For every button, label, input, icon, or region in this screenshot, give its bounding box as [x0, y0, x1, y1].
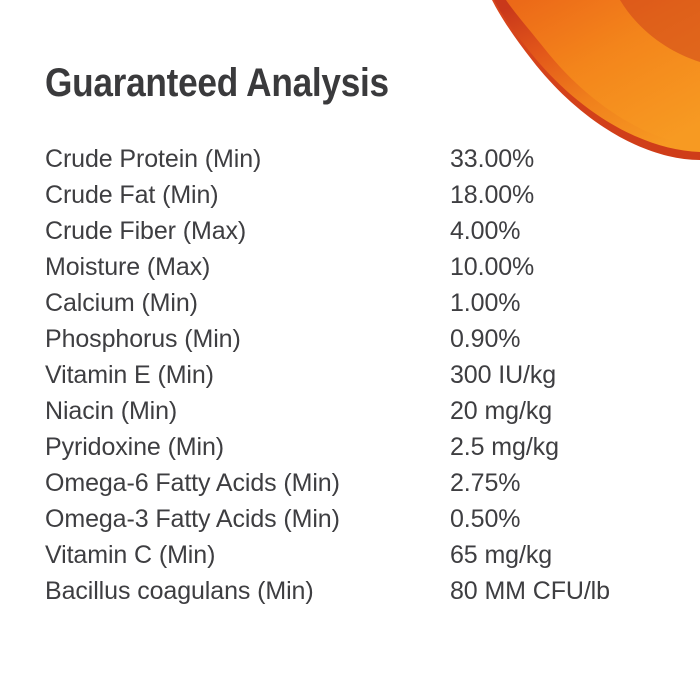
guaranteed-analysis-panel: Guaranteed Analysis Crude Protein (Min) … — [0, 0, 700, 700]
table-row: Phosphorus (Min) 0.90% — [45, 321, 655, 357]
nutrient-label: Calcium (Min) — [45, 285, 450, 321]
nutrient-value: 10.00% — [450, 249, 655, 285]
table-row: Vitamin C (Min) 65 mg/kg — [45, 537, 655, 573]
nutrient-value: 20 mg/kg — [450, 393, 655, 429]
nutrient-value: 18.00% — [450, 177, 655, 213]
nutrient-label: Crude Fat (Min) — [45, 177, 450, 213]
nutrient-value: 33.00% — [450, 141, 655, 177]
nutrient-label: Bacillus coagulans (Min) — [45, 573, 450, 609]
nutrient-label: Vitamin C (Min) — [45, 537, 450, 573]
table-row: Niacin (Min) 20 mg/kg — [45, 393, 655, 429]
nutrient-value: 0.90% — [450, 321, 655, 357]
nutrient-value: 80 MM CFU/lb — [450, 573, 655, 609]
nutrient-value: 2.5 mg/kg — [450, 429, 655, 465]
table-row: Bacillus coagulans (Min) 80 MM CFU/lb — [45, 573, 655, 609]
nutrient-value: 4.00% — [450, 213, 655, 249]
table-row: Pyridoxine (Min) 2.5 mg/kg — [45, 429, 655, 465]
nutrient-label: Omega-3 Fatty Acids (Min) — [45, 501, 450, 537]
nutrient-value: 300 IU/kg — [450, 357, 655, 393]
nutrient-value: 1.00% — [450, 285, 655, 321]
table-row: Moisture (Max) 10.00% — [45, 249, 655, 285]
table-row: Crude Protein (Min) 33.00% — [45, 141, 655, 177]
guaranteed-analysis-table: Crude Protein (Min) 33.00% Crude Fat (Mi… — [45, 141, 655, 609]
table-row: Vitamin E (Min) 300 IU/kg — [45, 357, 655, 393]
nutrient-label: Vitamin E (Min) — [45, 357, 450, 393]
nutrient-label: Omega-6 Fatty Acids (Min) — [45, 465, 450, 501]
table-row: Crude Fat (Min) 18.00% — [45, 177, 655, 213]
nutrient-value: 2.75% — [450, 465, 655, 501]
table-row: Crude Fiber (Max) 4.00% — [45, 213, 655, 249]
table-row: Omega-3 Fatty Acids (Min) 0.50% — [45, 501, 655, 537]
nutrient-value: 65 mg/kg — [450, 537, 655, 573]
nutrient-label: Moisture (Max) — [45, 249, 450, 285]
page-title: Guaranteed Analysis — [45, 62, 389, 104]
nutrient-label: Phosphorus (Min) — [45, 321, 450, 357]
table-row: Calcium (Min) 1.00% — [45, 285, 655, 321]
nutrient-label: Crude Fiber (Max) — [45, 213, 450, 249]
nutrient-label: Pyridoxine (Min) — [45, 429, 450, 465]
table-row: Omega-6 Fatty Acids (Min) 2.75% — [45, 465, 655, 501]
nutrient-label: Crude Protein (Min) — [45, 141, 450, 177]
nutrient-value: 0.50% — [450, 501, 655, 537]
nutrient-label: Niacin (Min) — [45, 393, 450, 429]
